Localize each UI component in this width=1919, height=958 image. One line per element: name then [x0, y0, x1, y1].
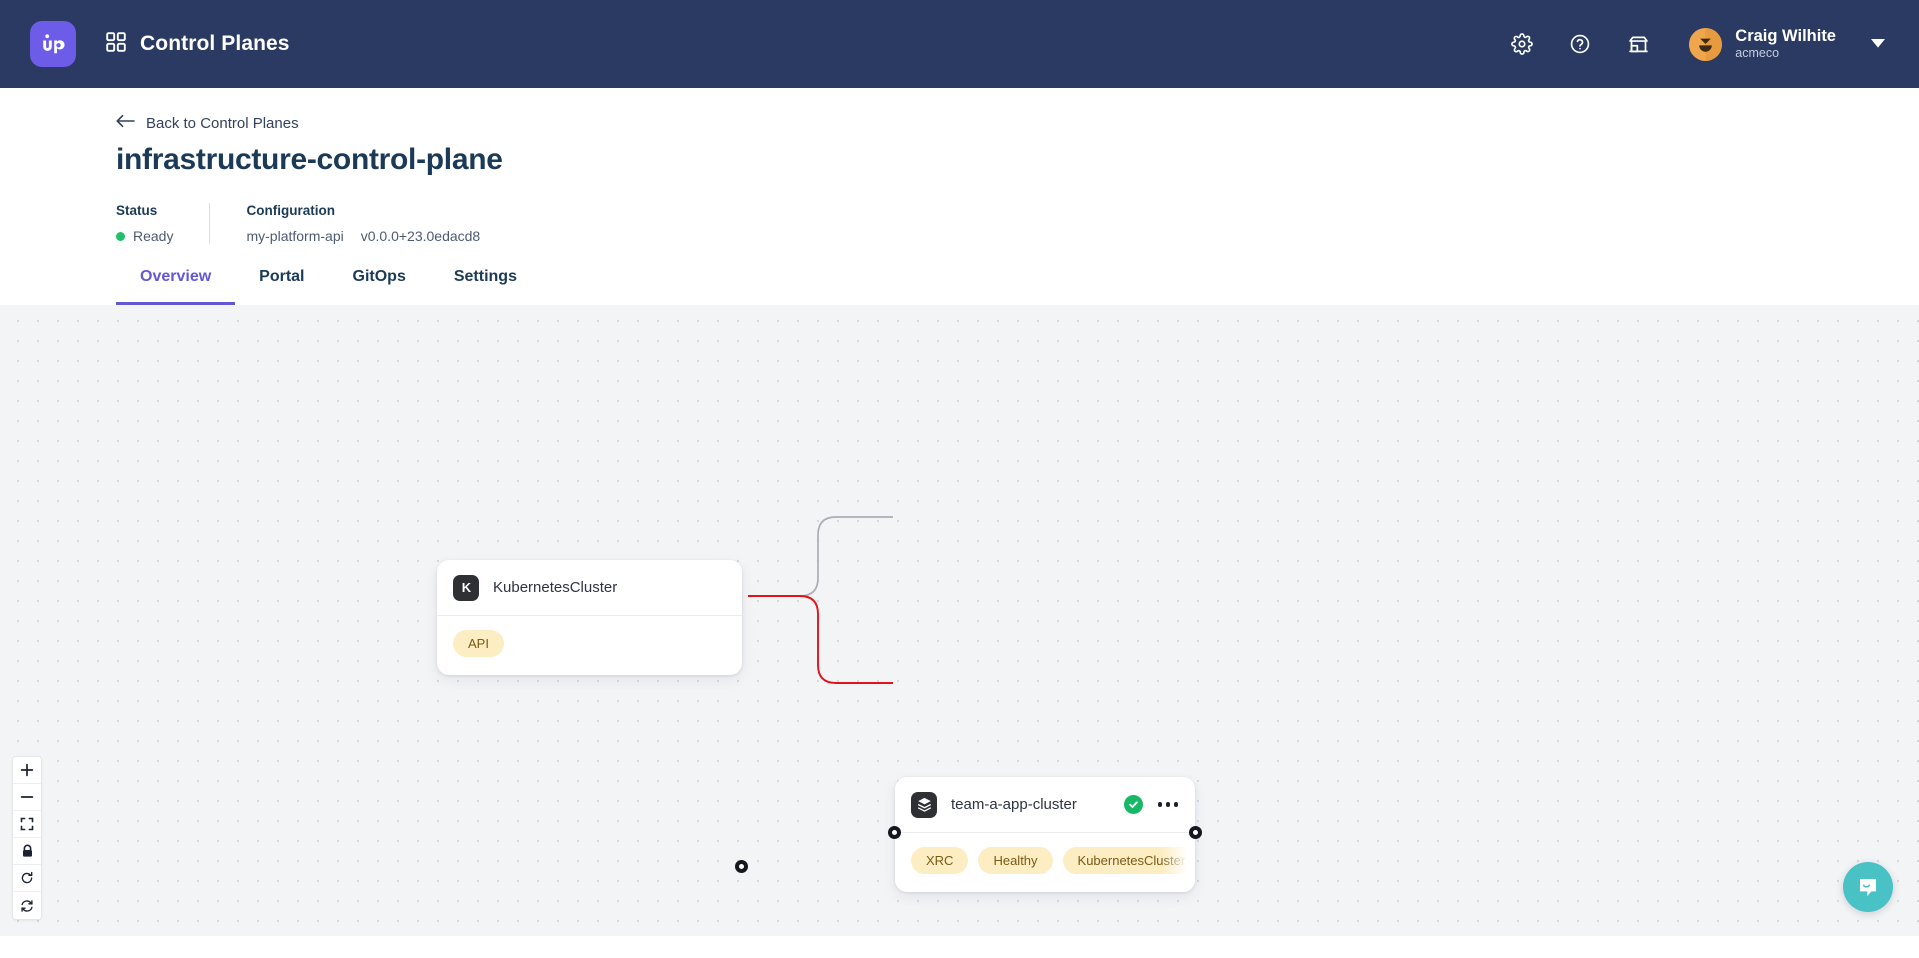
user-menu[interactable]: Craig Wilhite acmeco	[1689, 27, 1885, 60]
configuration-name: my-platform-api	[246, 228, 343, 244]
chat-widget-button[interactable]	[1843, 862, 1893, 912]
check-circle-icon	[1124, 795, 1143, 814]
reset-button[interactable]	[13, 865, 41, 892]
handle-team-a-right[interactable]	[1189, 826, 1202, 839]
sync-button[interactable]	[13, 892, 41, 919]
tab-overview[interactable]: Overview	[116, 268, 235, 305]
back-to-control-planes-link[interactable]: Back to Control Planes	[116, 114, 299, 132]
chip-xrc: XRC	[911, 847, 968, 874]
node-chips: XRC Healthy KubernetesCluster	[895, 833, 1195, 892]
up-logo[interactable]	[30, 21, 76, 67]
flow-controls	[13, 757, 41, 919]
tab-settings[interactable]: Settings	[430, 268, 541, 305]
arrow-left-icon	[116, 114, 135, 132]
user-name: Craig Wilhite	[1735, 27, 1836, 46]
fit-view-button[interactable]	[13, 811, 41, 838]
nav-title: Control Planes	[140, 32, 290, 56]
status-text: Ready	[133, 228, 173, 244]
node-title: KubernetesCluster	[493, 579, 617, 596]
topbar-actions	[1507, 29, 1653, 59]
node-title: team-a-app-cluster	[951, 796, 1077, 813]
user-org: acmeco	[1735, 46, 1836, 60]
chip-health: Healthy	[978, 847, 1052, 874]
handle-kubernetescluster-right[interactable]	[735, 860, 748, 873]
page-header: Back to Control Planes infrastructure-co…	[0, 88, 1919, 305]
help-icon[interactable]	[1565, 29, 1595, 59]
page-title: infrastructure-control-plane	[116, 143, 1919, 177]
tab-bar: Overview Portal GitOps Settings	[116, 268, 1919, 305]
top-navigation-bar: Control Planes	[0, 0, 1919, 88]
status-dot-icon	[116, 232, 125, 241]
node-header: team-a-app-cluster	[895, 777, 1195, 833]
kubernetes-k-icon: K	[453, 575, 479, 601]
node-header-actions	[1124, 795, 1180, 814]
status-value: Ready	[116, 228, 173, 244]
flow-canvas[interactable]: K KubernetesCluster API team-a-app-clust…	[0, 305, 1919, 936]
configuration-block: Configuration my-platform-api v0.0.0+23.…	[209, 203, 516, 244]
zoom-in-button[interactable]	[13, 757, 41, 784]
tab-gitops[interactable]: GitOps	[329, 268, 430, 305]
marketplace-icon[interactable]	[1623, 29, 1653, 59]
status-label: Status	[116, 203, 173, 218]
tab-portal[interactable]: Portal	[235, 268, 328, 305]
chevron-down-icon[interactable]	[1871, 35, 1885, 53]
svg-text:K: K	[461, 580, 471, 595]
status-block: Status Ready	[116, 203, 209, 244]
node-team-a-app-cluster[interactable]: team-a-app-cluster XRC Healthy Kubernete…	[895, 777, 1195, 892]
chip-api: API	[453, 630, 504, 657]
settings-icon[interactable]	[1507, 29, 1537, 59]
node-chips: API	[437, 616, 742, 675]
more-horizontal-icon[interactable]	[1157, 798, 1180, 811]
layers-icon	[911, 792, 937, 818]
edge-k8s-to-team-b	[748, 596, 893, 683]
nav-title-group[interactable]: Control Planes	[106, 32, 290, 57]
node-header: K KubernetesCluster	[437, 560, 742, 616]
configuration-value: my-platform-api v0.0.0+23.0edacd8	[246, 228, 480, 244]
back-link-label: Back to Control Planes	[146, 115, 299, 132]
configuration-version: v0.0.0+23.0edacd8	[361, 228, 481, 244]
handle-team-a-left[interactable]	[888, 826, 901, 839]
user-meta: Craig Wilhite acmeco	[1735, 27, 1836, 60]
meta-row: Status Ready Configuration my-platform-a…	[116, 203, 1919, 244]
configuration-label: Configuration	[246, 203, 480, 218]
lock-button[interactable]	[13, 838, 41, 865]
zoom-out-button[interactable]	[13, 784, 41, 811]
avatar	[1689, 28, 1722, 61]
grid-icon	[106, 32, 126, 57]
node-kubernetescluster[interactable]: K KubernetesCluster API	[437, 560, 742, 675]
edge-k8s-to-team-a	[748, 517, 893, 596]
chip-kind: KubernetesCluster	[1063, 847, 1195, 874]
